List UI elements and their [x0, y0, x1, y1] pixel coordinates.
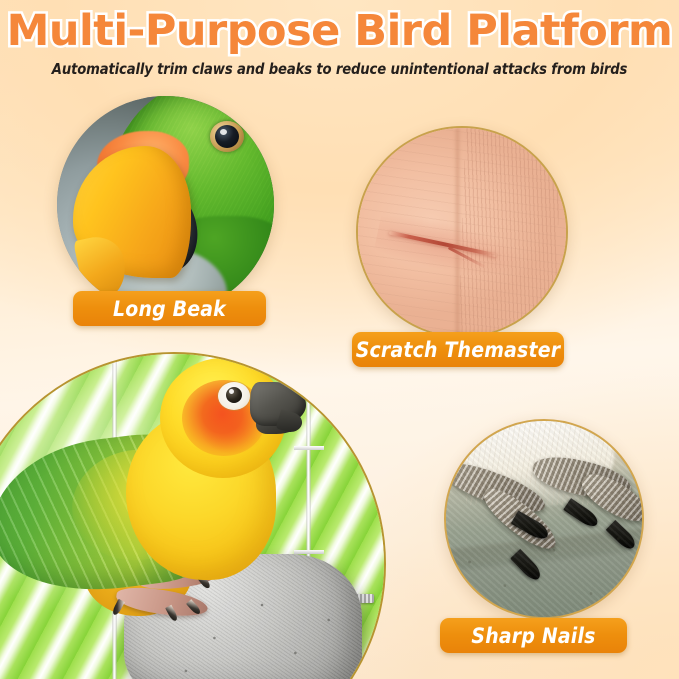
- photo-long-beak: [57, 96, 274, 313]
- badge-long-beak: Long Beak: [73, 291, 266, 326]
- page-title: Multi-Purpose Bird Platform: [0, 0, 679, 56]
- page-subtitle: Automatically trim claws and beaks to re…: [12, 56, 667, 80]
- parrot-eye-glint: [220, 129, 227, 135]
- parrot-eye: [215, 125, 239, 148]
- photo-main-product: [0, 352, 386, 679]
- photo-scratch-wound: [356, 126, 568, 338]
- product-infographic: Multi-Purpose Bird Platform Automaticall…: [0, 0, 679, 679]
- badge-scratch-themaster-label: Scratch Themaster: [356, 338, 561, 362]
- photo-sharp-nails: [444, 419, 644, 619]
- badge-scratch-themaster: Scratch Themaster: [352, 332, 564, 367]
- parrot-head-illustration: [57, 96, 274, 313]
- badge-long-beak-label: Long Beak: [113, 297, 226, 321]
- header: Multi-Purpose Bird Platform Automaticall…: [0, 0, 679, 92]
- stone-speckle-texture: [446, 421, 642, 617]
- badge-sharp-nails-label: Sharp Nails: [471, 624, 595, 648]
- sun-conure-parrot: [0, 354, 386, 679]
- badge-sharp-nails: Sharp Nails: [440, 618, 627, 653]
- parrot-eye-glint: [229, 389, 234, 394]
